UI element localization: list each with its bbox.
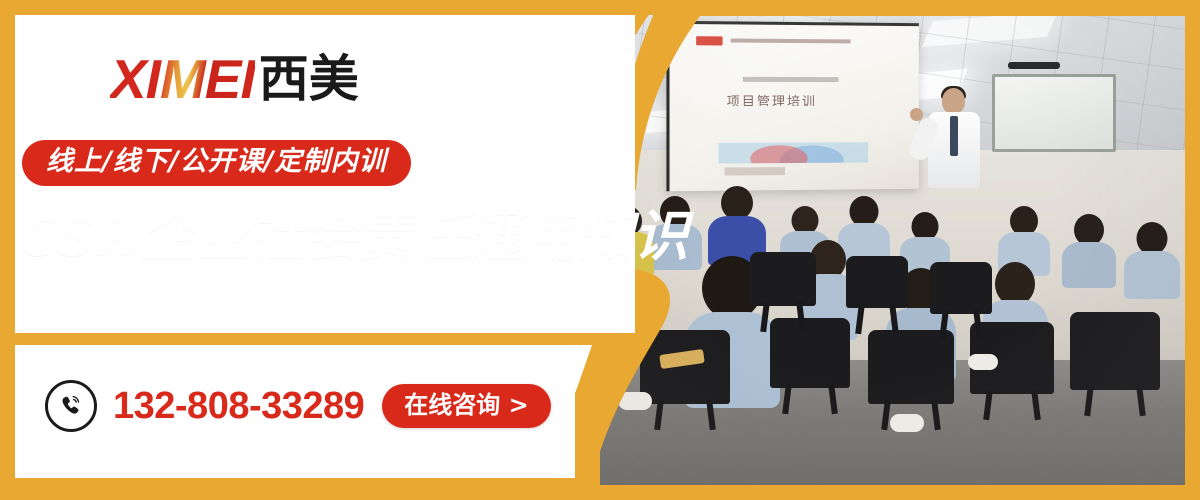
ximei-logo[interactable]: XIMEI 西美 — [110, 48, 359, 110]
phone-call-icon — [45, 380, 97, 432]
contact-bar: 132-808-33289 在线咨询 > — [45, 382, 551, 430]
photo-canvas: 项目管理培训 — [600, 0, 1200, 500]
training-photo: 项目管理培训 — [600, 0, 1200, 500]
photo-vignette — [600, 0, 1200, 500]
page-title: CSR企业社会责任通用知识 — [18, 208, 688, 266]
promo-banner: 项目管理培训 — [0, 0, 1200, 500]
logo-chinese-text: 西美 — [259, 54, 359, 104]
phone-number[interactable]: 132-808-33289 — [113, 387, 364, 425]
page-subtitle: CSR培训 | 企业社会责任培训 — [22, 288, 363, 318]
online-consult-button[interactable]: 在线咨询 > — [382, 384, 550, 428]
logo-latin-text: XIMEI — [110, 52, 255, 107]
course-format-badge: 线上/线下/公开课/定制内训 — [22, 140, 411, 186]
